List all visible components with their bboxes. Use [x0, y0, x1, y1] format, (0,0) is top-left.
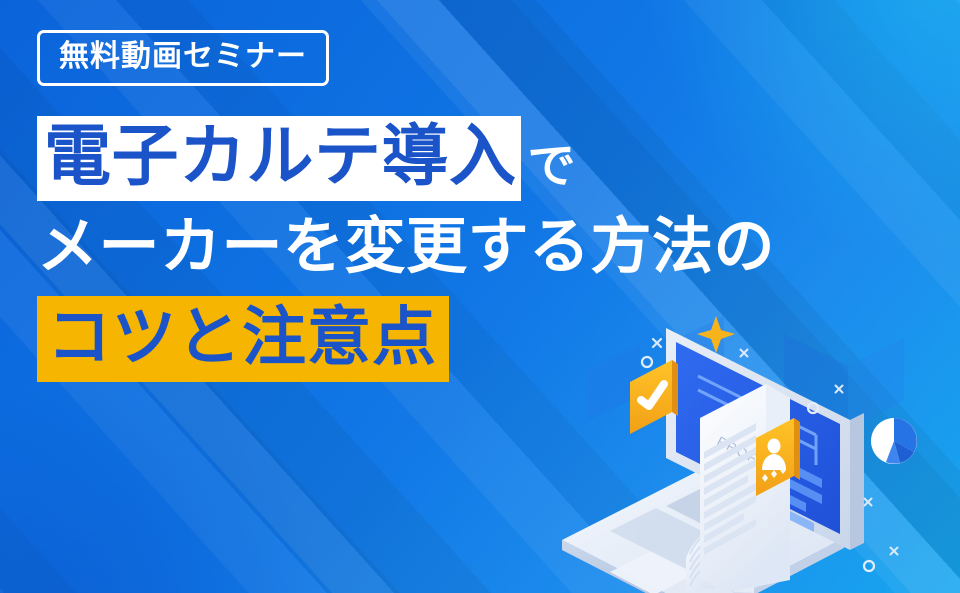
headline-line-3-wrap: コツと注意点 — [37, 278, 775, 382]
seminar-banner: PROFILE — [0, 0, 960, 593]
headline: 電子カルテ導入 で メーカーを変更する方法の コツと注意点 — [37, 116, 775, 382]
headline-highlight-white: 電子カルテ導入 — [37, 116, 521, 201]
blue-glow-bottom-left — [0, 353, 360, 593]
pie-chart-icon — [871, 418, 917, 464]
headline-line1-tail: で — [521, 143, 576, 201]
headline-line-2: メーカーを変更する方法の — [37, 215, 775, 278]
seminar-badge: 無料動画セミナー — [37, 30, 329, 86]
banner-content: 無料動画セミナー 電子カルテ導入 で メーカーを変更する方法の コツと注意点 — [37, 30, 775, 382]
headline-line-1: 電子カルテ導入 で — [37, 116, 775, 201]
headline-highlight-yellow: コツと注意点 — [37, 296, 449, 382]
